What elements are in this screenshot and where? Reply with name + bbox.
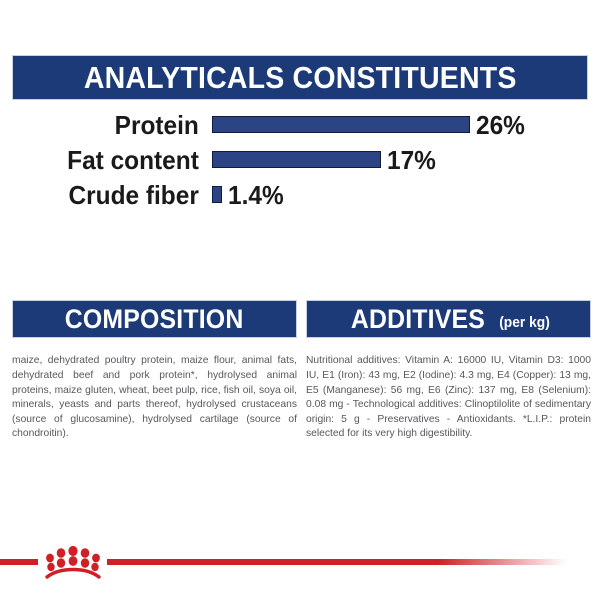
- analytical-constituents-panel: ANALYTICALS CONSTITUENTS Protein 26% Fat…: [12, 55, 588, 280]
- additives-text: Nutritional additives: Vitamin A: 16000 …: [306, 354, 591, 442]
- bar-protein: [212, 116, 470, 133]
- bar-fat-content: [212, 151, 381, 168]
- additives-title: ADDITIVES: [350, 306, 484, 333]
- additives-subtitle: (per kg): [500, 315, 551, 330]
- logo-rule-left: [0, 559, 38, 565]
- chart-label-protein: Protein: [24, 112, 212, 138]
- analytical-constituents-banner: ANALYTICALS CONSTITUENTS: [12, 55, 588, 100]
- brand-logo: [0, 540, 600, 582]
- crown-icon: [42, 542, 104, 580]
- constituents-bar-chart: Protein 26% Fat content 17% Crude fiber …: [12, 107, 588, 212]
- composition-text: maize, dehydrated poultry protein, maize…: [12, 354, 297, 442]
- bar-wrap-crude-fiber: 1.4%: [212, 177, 588, 212]
- composition-title: COMPOSITION: [65, 306, 244, 333]
- chart-row-protein: Protein 26%: [12, 107, 588, 142]
- bar-wrap-fat-content: 17%: [212, 142, 588, 177]
- chart-label-crude-fiber: Crude fiber: [24, 182, 212, 208]
- chart-value-protein: 26%: [476, 112, 525, 138]
- chart-row-fat-content: Fat content 17%: [12, 142, 588, 177]
- logo-rule-right: [107, 559, 567, 565]
- chart-row-crude-fiber: Crude fiber 1.4%: [12, 177, 588, 212]
- additives-panel: ADDITIVES (per kg) Nutritional additives…: [306, 300, 591, 500]
- packaging-info-page: ANALYTICALS CONSTITUENTS Protein 26% Fat…: [0, 0, 600, 600]
- bar-wrap-protein: 26%: [212, 107, 588, 142]
- additives-banner: ADDITIVES (per kg): [306, 300, 591, 338]
- analytical-constituents-title: ANALYTICALS CONSTITUENTS: [84, 62, 517, 93]
- composition-panel: COMPOSITION maize, dehydrated poultry pr…: [12, 300, 297, 500]
- bar-crude-fiber: [212, 186, 222, 203]
- composition-banner: COMPOSITION: [12, 300, 297, 338]
- chart-value-fat-content: 17%: [387, 147, 436, 173]
- chart-label-fat-content: Fat content: [24, 147, 212, 173]
- chart-value-crude-fiber: 1.4%: [228, 182, 284, 208]
